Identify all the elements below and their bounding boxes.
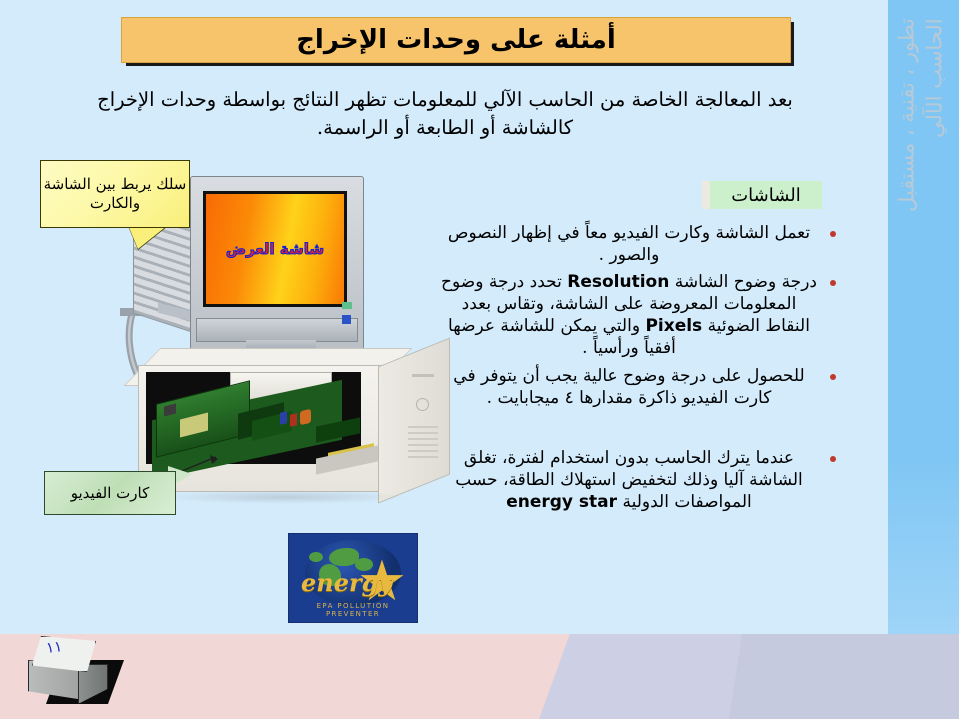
bullet-list: تعمل الشاشة وكارت الفيديو معاً في إظهار …	[440, 222, 840, 518]
capacitor-red	[290, 413, 297, 426]
list-item: عندما يترك الحاسب بدون استخدام لفترة، تغ…	[440, 447, 840, 513]
monitor-power-button	[342, 315, 351, 324]
tower-front-vent	[412, 374, 434, 377]
sidebar-vertical-text: تطور ، تقنية ، مستقبل الحاسب الآلي	[888, 0, 959, 634]
cable-callout-tail	[128, 225, 168, 249]
term-pixels: Pixels	[645, 315, 702, 337]
list-item: للحصول على درجة وضوح عالية يجب أن يتوفر …	[440, 365, 840, 409]
capacitor-blue	[280, 411, 287, 424]
section-heading-box: الشاشات	[710, 181, 822, 209]
list-item: درجة وضوح الشاشة Resolution تحدد درجة وض…	[440, 271, 840, 359]
tower-shadow	[160, 490, 410, 504]
sidebar-line-2: الحاسب الآلي	[921, 18, 949, 138]
bullet-text-before: درجة وضوح الشاشة	[675, 272, 817, 292]
page-title: أمثلة على وحدات الإخراج	[296, 25, 616, 55]
slide-title-box: أمثلة على وحدات الإخراج	[121, 17, 791, 63]
cable-callout: سلك يربط بين الشاشة والكارت	[40, 160, 190, 228]
logo-footer-text: EPA POLLUTION PREVENTER	[289, 602, 417, 618]
bullet-text: تعمل الشاشة وكارت الفيديو معاً في إظهار …	[448, 223, 810, 265]
tower-front-knob	[416, 398, 429, 411]
term-energy-star: energy star	[506, 491, 617, 513]
monitor-chin	[196, 318, 358, 342]
page-number: ١١	[45, 637, 63, 657]
screen-label: شاشة العرض	[226, 240, 324, 258]
section-heading-wrap: الشاشات	[702, 181, 822, 209]
monitor-power-led-icon	[342, 302, 352, 309]
energy-wordmark: energy	[301, 568, 392, 597]
globe-landmass	[309, 552, 323, 562]
term-resolution: Resolution	[567, 271, 669, 293]
keycap-top-face	[32, 636, 96, 672]
capacitor-orange	[300, 409, 311, 425]
tower-front-grille	[408, 422, 438, 460]
video-card-callout: كارت الفيديو	[44, 471, 176, 515]
bullet-text-after: والتي يمكن للشاشة عرضها أفقياً ورأسياً .	[448, 316, 676, 358]
list-item: تعمل الشاشة وكارت الفيديو معاً في إظهار …	[440, 222, 840, 266]
energy-star-logo: ★ energy EPA POLLUTION PREVENTER	[288, 533, 418, 623]
monitor-screen: شاشة العرض	[203, 191, 347, 307]
intro-paragraph: بعد المعالجة الخاصة من الحاسب الآلي للمع…	[70, 86, 820, 143]
bullet-text: للحصول على درجة وضوح عالية يجب أن يتوفر …	[453, 366, 804, 408]
section-heading-label: الشاشات	[731, 185, 801, 206]
page-number-keycap: ١١	[28, 632, 120, 708]
sidebar-line-1: تطور ، تقنية ، مستقبل	[892, 18, 920, 212]
